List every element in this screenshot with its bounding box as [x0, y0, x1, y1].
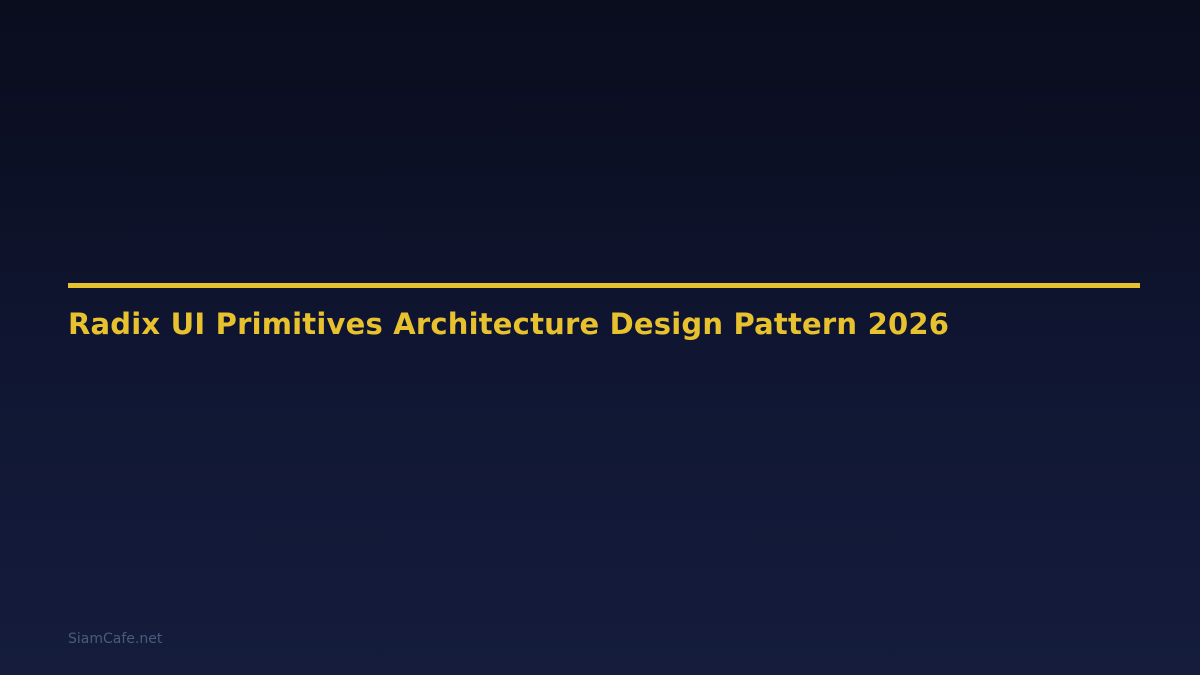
page-title: Radix UI Primitives Architecture Design … — [68, 306, 949, 342]
title-slide: Radix UI Primitives Architecture Design … — [0, 0, 1200, 675]
title-accent-rule — [68, 283, 1140, 288]
footer-watermark: SiamCafe.net — [68, 630, 162, 648]
